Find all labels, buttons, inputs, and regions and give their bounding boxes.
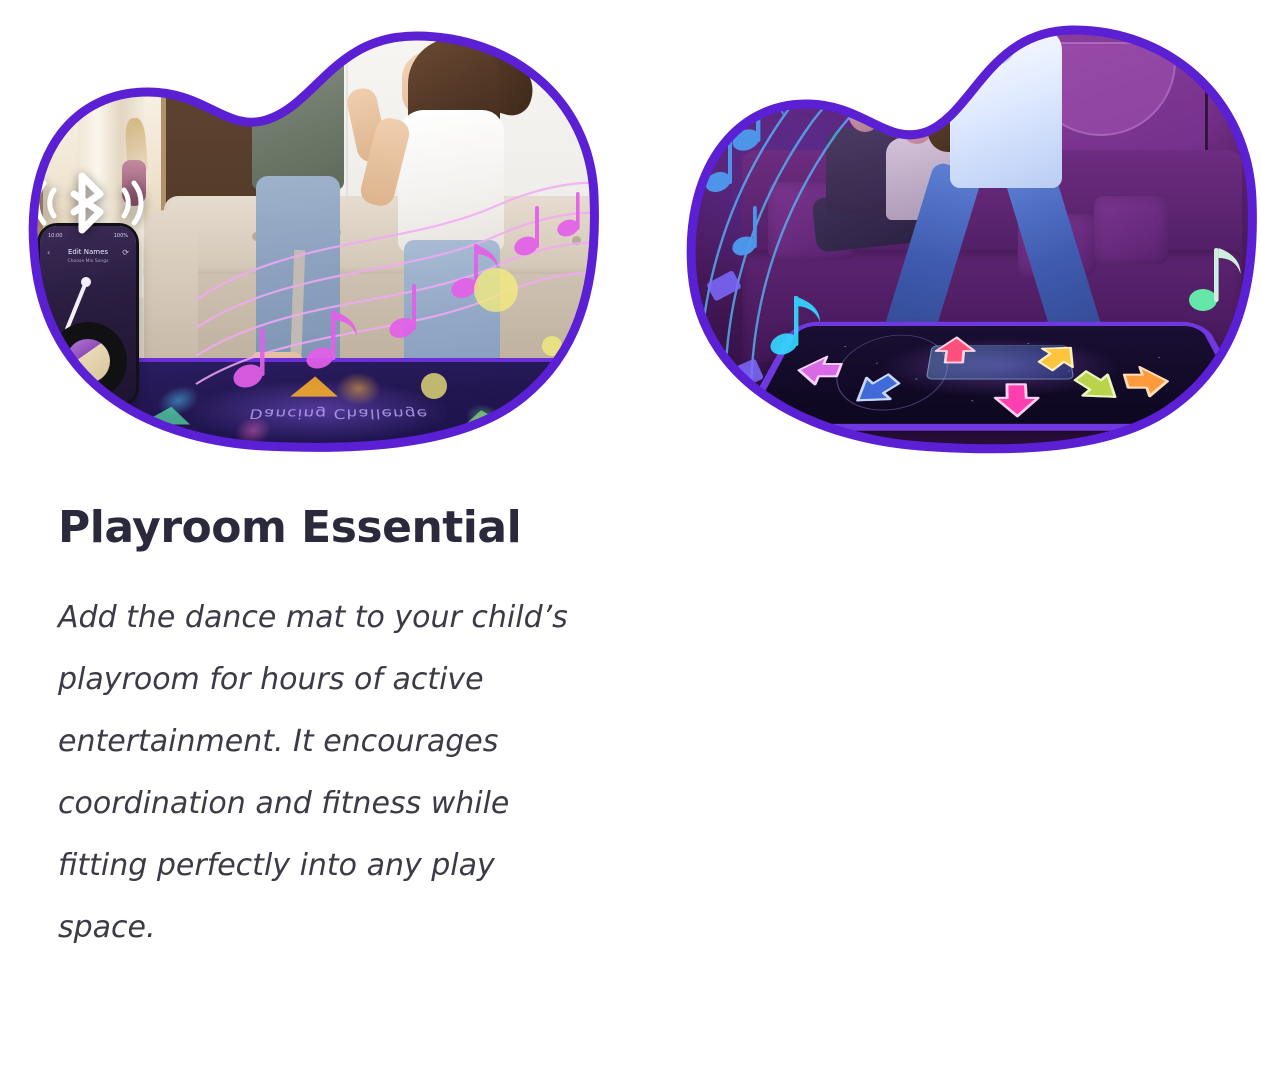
blob-frame-left: Dancing Challenge — [16, 0, 608, 460]
feature-grid: Dancing Challenge — [0, 0, 1261, 1066]
phone-screen-title: Edit Names — [40, 248, 136, 256]
feature-image-party-fun — [682, 0, 1261, 460]
music-notes-overlay-left — [196, 150, 608, 450]
blob-frame-right — [682, 0, 1261, 460]
scene-right — [682, 0, 1261, 460]
music-note-green-icon — [1187, 238, 1245, 318]
feature-column-party-fun: Party Fun Make every party unforgettable… — [640, 0, 1261, 1066]
feature-heading-playroom-essential: Playroom Essential — [58, 505, 588, 551]
feature-copy-playroom-essential: Playroom Essential Add the dance mat to … — [58, 505, 588, 959]
feature-body-playroom-essential: Add the dance mat to your child’s playro… — [58, 587, 588, 959]
music-notes-overlay-right — [688, 40, 938, 430]
feature-image-playroom-essential: Dancing Challenge — [16, 0, 608, 460]
phone-screen-subtitle: Choose Mix Songs — [40, 259, 136, 264]
feature-column-playroom-essential: Dancing Challenge — [0, 0, 640, 1066]
sofa-arm — [144, 210, 198, 370]
arrow-down-icon — [990, 381, 1045, 420]
arrow-down-right-icon — [1069, 368, 1128, 405]
bluetooth-icon — [30, 168, 148, 238]
pillow-right — [1094, 196, 1168, 264]
bluetooth-badge — [30, 168, 148, 238]
